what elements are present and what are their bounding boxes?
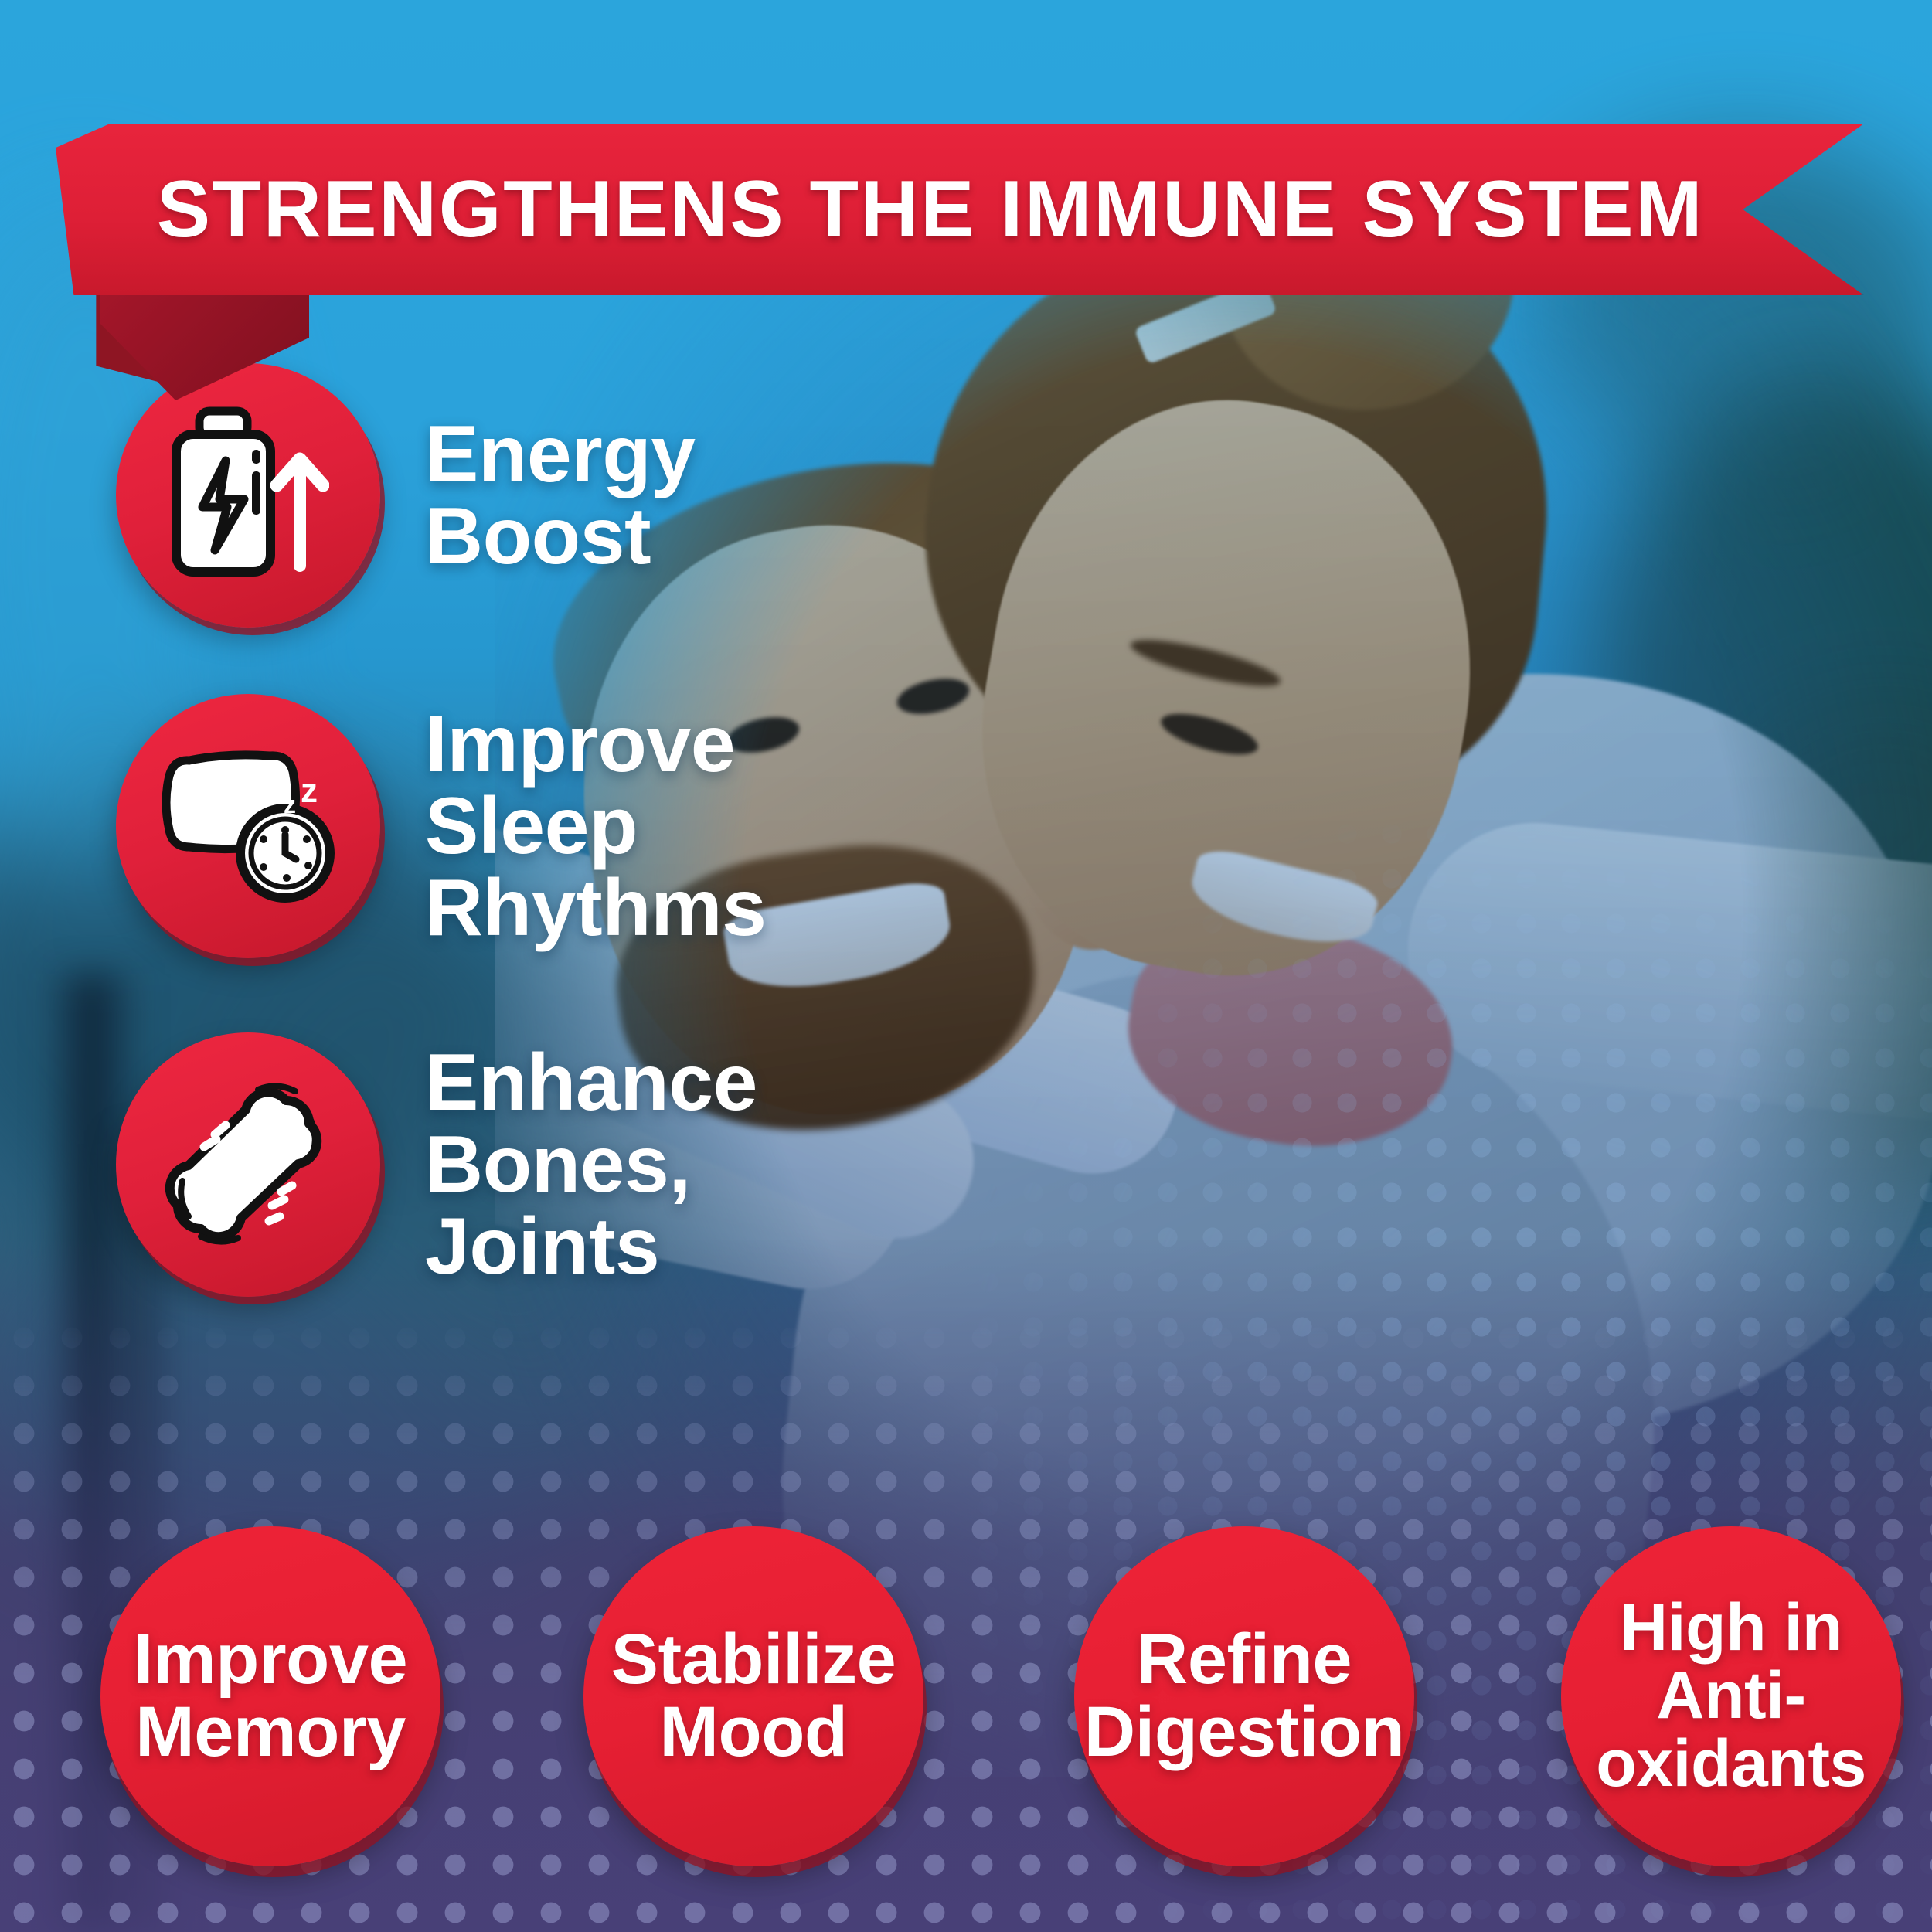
feature-row-enhance-bones: Enhance Bones, Joints: [116, 1032, 1028, 1297]
battery-charge-up-icon: [116, 363, 380, 628]
benefit-badge-refine-digestion: Refine Digestion: [1074, 1526, 1414, 1866]
immune-system-infographic-poster: STRENGTHENS THE IMMUNE SYSTEM Energy Boo…: [0, 0, 1932, 1932]
feature-label-improve-sleep: Improve Sleep Rhythms: [425, 703, 766, 949]
feature-label-energy-boost: Energy Boost: [425, 413, 696, 577]
benefit-badge-label-refine-digestion: Refine Digestion: [1074, 1624, 1414, 1769]
benefit-badge-label-high-in-antioxidants: High in Anti- oxidants: [1561, 1594, 1901, 1798]
feature-row-energy-boost: Energy Boost: [116, 363, 1028, 628]
benefit-badge-label-stabilize-mood: Stabilize Mood: [583, 1624, 923, 1769]
benefit-badge-stabilize-mood: Stabilize Mood: [583, 1526, 923, 1866]
benefit-badge-improve-memory: Improve Memory: [100, 1526, 440, 1866]
feature-label-enhance-bones: Enhance Bones, Joints: [425, 1042, 757, 1287]
pillow-clock-sleep-icon: z z: [116, 694, 380, 958]
benefit-badge-label-improve-memory: Improve Memory: [100, 1624, 440, 1769]
headline-ribbon-banner: STRENGTHENS THE IMMUNE SYSTEM: [56, 124, 1864, 295]
bone-joint-icon: [116, 1032, 380, 1297]
svg-text:z: z: [301, 772, 318, 810]
headline-title: STRENGTHENS THE IMMUNE SYSTEM: [56, 124, 1864, 295]
benefit-badge-high-in-antioxidants: High in Anti- oxidants: [1561, 1526, 1901, 1866]
feature-row-improve-sleep: z z Improve Sleep Rhythms: [116, 694, 1028, 958]
svg-text:z: z: [284, 791, 296, 818]
feature-list: Energy Boost z z Impr: [116, 363, 1028, 1297]
benefit-badge-row: Improve Memory Stabilize Mood Refine Dig…: [0, 1526, 1932, 1928]
